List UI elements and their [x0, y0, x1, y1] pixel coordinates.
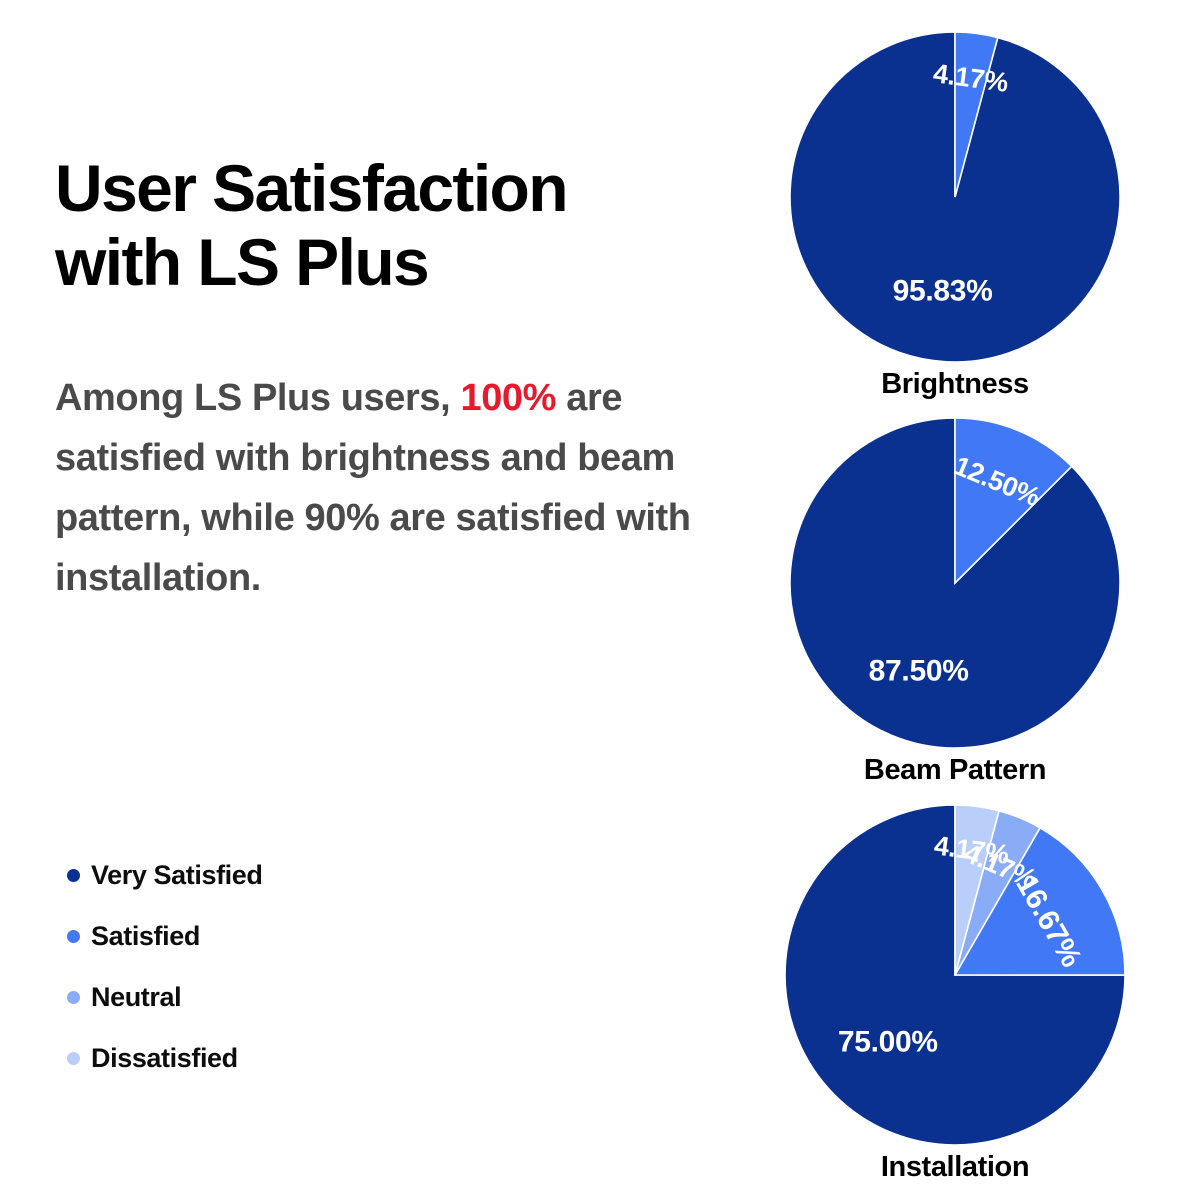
legend-item-very-satisfied: Very Satisfied: [67, 845, 567, 906]
pie-installation-svg: 75.00%16.67%4.17%4.17%: [785, 805, 1125, 1145]
pie-caption-beam-pattern: Beam Pattern: [710, 754, 1200, 787]
legend-bullet-icon: [67, 869, 80, 882]
legend-item-neutral: Neutral: [67, 967, 567, 1028]
pie-charts-column: 95.83%4.17% Brightness 87.50%12.50% Beam…: [710, 0, 1200, 1200]
legend-item-label: Very Satisfied: [91, 860, 263, 891]
left-content-column: User Satisfaction with LS Plus Among LS …: [55, 0, 705, 1200]
body-text-part1: Among LS Plus users,: [55, 377, 460, 419]
pie-chart-installation: 75.00%16.67%4.17%4.17% Installation: [710, 805, 1200, 1184]
legend-item-label: Neutral: [91, 982, 181, 1013]
pie-caption-brightness: Brightness: [710, 368, 1200, 401]
legend-item-satisfied: Satisfied: [67, 906, 567, 967]
legend: Very Satisfied Satisfied Neutral Dissati…: [67, 845, 567, 1089]
legend-bullet-icon: [67, 1052, 80, 1065]
pie-slice-label: 75.00%: [838, 1026, 938, 1059]
pie-chart-beam-pattern: 87.50%12.50% Beam Pattern: [710, 418, 1200, 787]
legend-item-dissatisfied: Dissatisfied: [67, 1028, 567, 1089]
legend-item-label: Dissatisfied: [91, 1043, 238, 1074]
pie-caption-installation: Installation: [710, 1151, 1200, 1184]
infographic-page: User Satisfaction with LS Plus Among LS …: [0, 0, 1200, 1200]
pie-brightness-svg: 95.83%4.17%: [790, 32, 1120, 362]
page-title: User Satisfaction with LS Plus: [55, 152, 695, 300]
legend-item-label: Satisfied: [91, 921, 200, 952]
body-paragraph: Among LS Plus users, 100% are satisfied …: [55, 368, 695, 608]
pie-slice-label: 95.83%: [893, 275, 993, 308]
body-highlight-value: 100%: [460, 377, 556, 419]
pie-slice-label: 87.50%: [869, 654, 969, 687]
pie-beam-pattern-svg: 87.50%12.50%: [790, 418, 1120, 748]
legend-bullet-icon: [67, 930, 80, 943]
legend-bullet-icon: [67, 991, 80, 1004]
pie-chart-brightness: 95.83%4.17% Brightness: [710, 32, 1200, 401]
